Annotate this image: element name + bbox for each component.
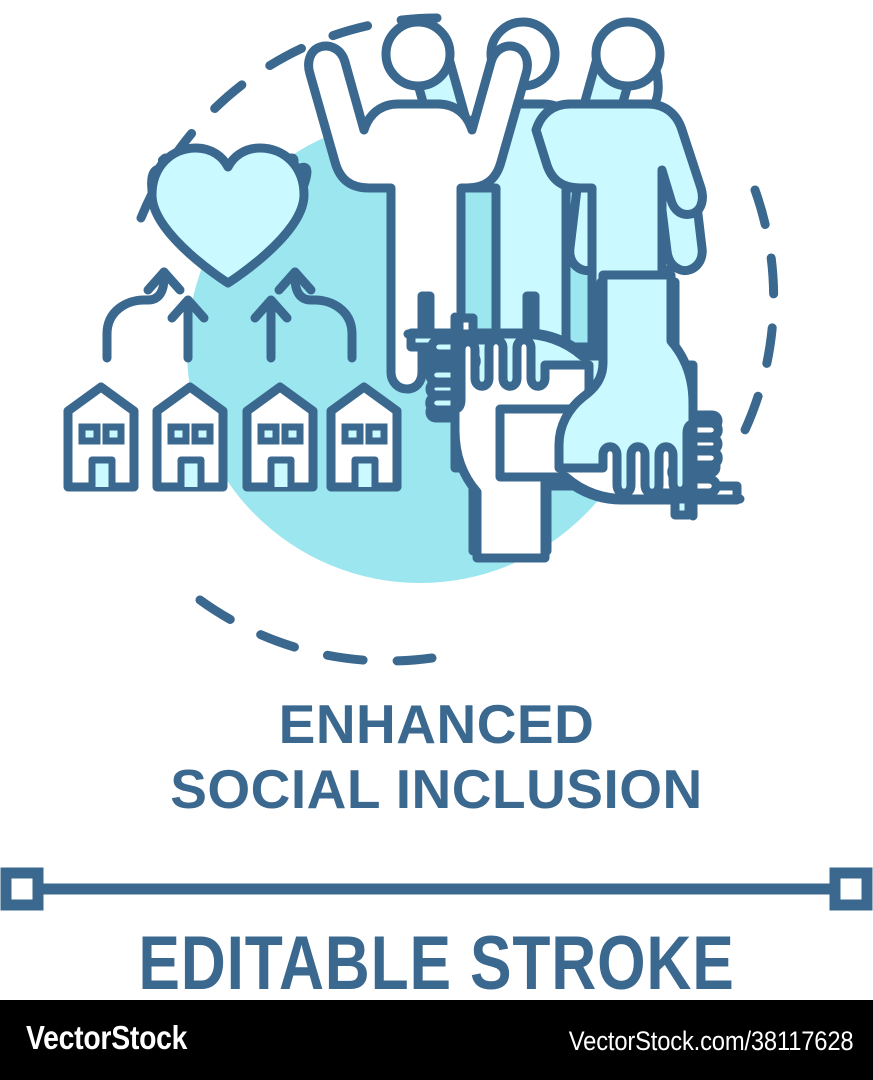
stroke-handle-right[interactable] [835,873,867,905]
house-1 [68,387,134,487]
title-line-2: SOCIAL INCLUSION [0,762,873,817]
concept-illustration [0,0,873,680]
person-right-head [596,22,660,86]
page-root: ENHANCED SOCIAL INCLUSION EDITABLE STROK… [0,0,873,1080]
concept-title: ENHANCED SOCIAL INCLUSION [0,697,873,817]
watermark-url: VectorStock.com/38117628 [568,1026,853,1057]
watermark-brand: VectorStock [26,1019,187,1057]
editable-stroke-width-indicator [0,858,873,920]
house-4 [331,387,397,487]
editable-stroke-caption: EDITABLE STROKE [79,920,795,1007]
stroke-handle-left[interactable] [6,873,38,905]
house-2 [157,387,223,487]
watermark-bar: VectorStock VectorStock.com/38117628 [0,1000,873,1080]
title-line-1: ENHANCED [0,697,873,752]
house-3 [247,387,313,487]
